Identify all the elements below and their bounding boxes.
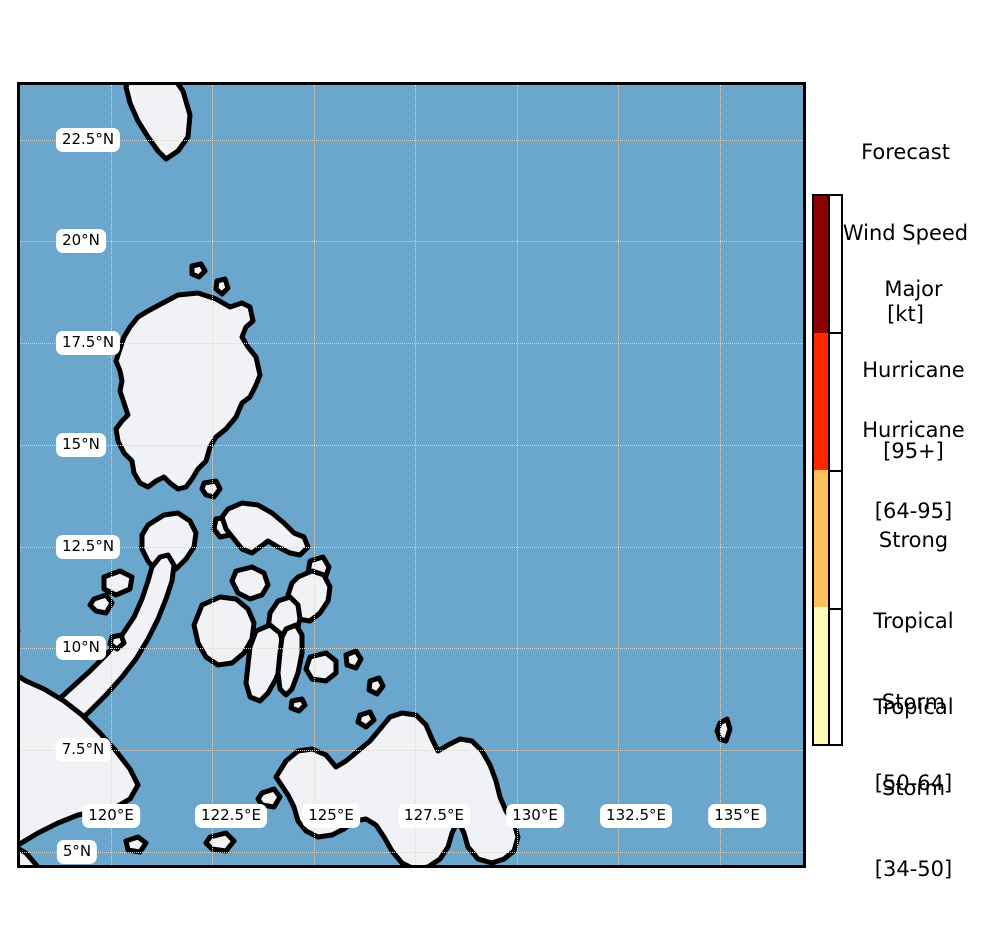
islet-zamboanga-small [206,833,234,851]
colorbar-tick-top [830,194,842,196]
islet-culion [90,595,112,613]
lon-tick-label-125: 125°E [302,804,360,828]
lon-tick-label-120: 120°E [82,804,140,828]
lat-tick-label-15: 15°N [56,433,106,457]
hurricane-line-1: Hurricane [838,417,989,444]
colorbar-gradient[interactable] [812,194,830,746]
colorbar-segment-hurricane[interactable] [814,333,828,470]
strong-tropical-storm-line-2: Tropical [838,608,989,635]
tropical-storm-line-2: Storm [838,775,989,802]
colorbar-segment-strong-tropical-storm[interactable] [814,470,828,607]
colorbar-label-tropical-storm: Tropical Storm [34-50] [838,640,989,937]
gridline-lon-127_5 [415,85,416,865]
islet-east-135e [717,719,730,741]
gridline-lat-5 [20,852,803,853]
gridline-lon-122_5 [212,85,213,865]
lon-tick-label-127_5: 127.5°E [398,804,470,828]
lat-tick-label-10: 10°N [56,636,106,660]
map-coastlines [20,85,803,865]
colorbar-title-line-1: Forecast [822,139,989,166]
lon-tick-label-122_5: 122.5°E [195,804,267,828]
lon-tick-label-132_5: 132.5°E [600,804,672,828]
lat-tick-label-17_5: 17.5°N [56,331,120,355]
gridline-lat-12_5 [20,547,803,548]
lat-tick-label-22_5: 22.5°N [56,128,120,152]
islet-siquijor [291,699,305,711]
colorbar-segment-major-hurricane[interactable] [814,196,828,333]
lat-tick-label-5: 5°N [57,840,97,864]
islet-sulu-2 [126,837,146,852]
islet-lubang [202,481,220,497]
lat-tick-label-20: 20°N [56,229,106,253]
gridline-lon-120 [111,85,112,865]
gridline-lat-20 [20,241,803,242]
gridline-lon-130 [517,85,518,865]
landmass-bohol [306,653,336,681]
landmass-cebu [278,625,302,695]
landmass-panay [194,597,254,665]
gridline-lon-135 [720,85,721,865]
gridline-lat-17_5 [20,343,803,344]
gridline-lat-10 [20,648,803,649]
gridline-lon-125 [314,85,315,865]
landmass-mindanao [276,713,518,865]
gridline-lat-15 [20,445,803,446]
islet-busuanga [104,571,132,595]
islet-babuyan-1 [216,279,228,294]
landmass-masbate [232,567,268,599]
islet-dinagat [369,678,383,694]
gridline-lon-132_5 [618,85,619,865]
lon-tick-label-130: 130°E [506,804,564,828]
islet-cuyo [110,635,124,649]
tropical-storm-line-1: Tropical [838,694,989,721]
lon-tick-label-135: 135°E [708,804,766,828]
islet-siargao [346,651,361,668]
islet-camiguin [358,712,374,727]
landmass-taiwan [126,85,190,159]
strong-tropical-storm-line-1: Strong [838,527,989,554]
gridline-lat-22_5 [20,140,803,141]
lat-tick-label-7_5: 7.5°N [56,738,111,762]
map-panel[interactable]: 22.5°N 20°N 17.5°N 15°N 12.5°N 10°N 7.5°… [17,82,806,868]
colorbar-segment-tropical-storm[interactable] [814,607,828,744]
tropical-storm-line-3: [34-50] [838,856,989,883]
landmass-luzon [116,293,260,489]
islet-batanes-1 [192,264,205,277]
lat-tick-label-12_5: 12.5°N [56,535,120,559]
gridline-lat-7_5 [20,750,803,751]
major-hurricane-line-1: Major [838,276,989,303]
